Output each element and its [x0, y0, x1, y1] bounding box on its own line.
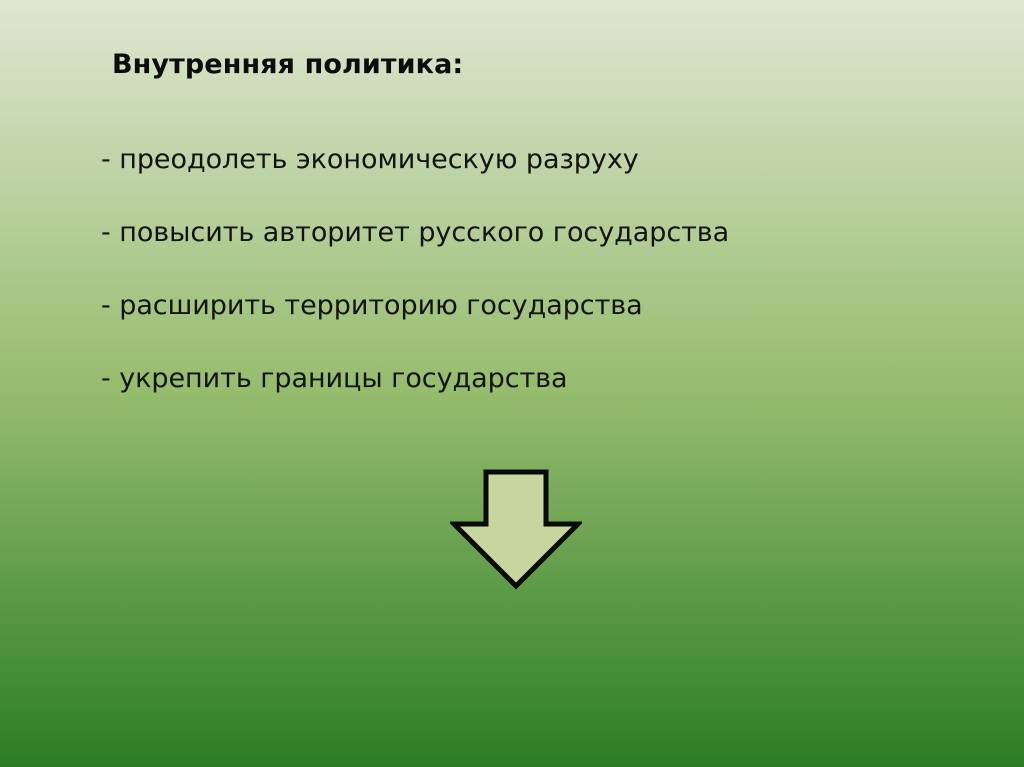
- list-item: - повысить авторитет русского государств…: [101, 215, 921, 288]
- list-item: - укрепить границы государства: [101, 361, 921, 434]
- list-item: - преодолеть экономическую разруху: [101, 142, 921, 215]
- bullet-list: - преодолеть экономическую разруху - пов…: [101, 142, 921, 434]
- page-title: Внутренняя политика:: [112, 48, 463, 82]
- arrow-down-shape: [454, 472, 578, 586]
- slide-canvas: Внутренняя политика: - преодолеть эконом…: [0, 0, 1024, 767]
- list-item: - расширить территорию государства: [101, 288, 921, 361]
- arrow-down-icon: [450, 468, 582, 590]
